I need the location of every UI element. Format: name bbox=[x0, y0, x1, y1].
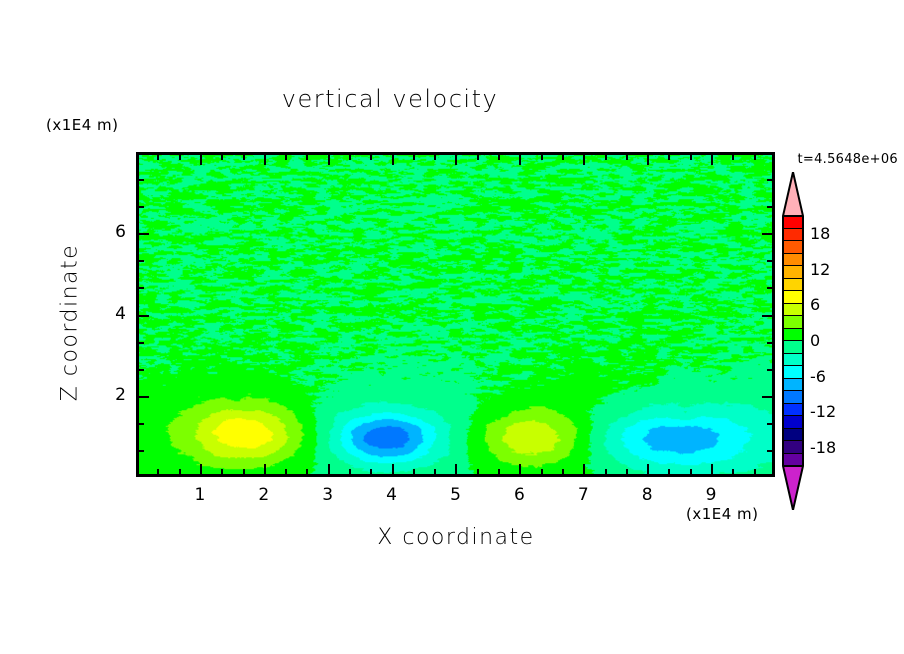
tick-mark bbox=[157, 469, 159, 475]
colorbar-band bbox=[782, 416, 804, 429]
tick-mark bbox=[138, 396, 149, 398]
tick-mark bbox=[138, 369, 144, 371]
tick-mark bbox=[767, 179, 773, 181]
tick-mark bbox=[179, 154, 181, 160]
colorbar-band bbox=[782, 354, 804, 367]
tick-mark bbox=[626, 154, 628, 160]
tick-mark bbox=[732, 154, 734, 160]
tick-mark bbox=[455, 154, 457, 165]
colorbar-band bbox=[782, 454, 804, 467]
page-title: vertical velocity bbox=[0, 85, 780, 113]
colorbar-extend-min bbox=[782, 466, 804, 510]
tick-mark bbox=[762, 396, 773, 398]
tick-mark bbox=[413, 469, 415, 475]
colorbar-band bbox=[782, 216, 804, 229]
tick-mark bbox=[434, 469, 436, 475]
x-tick-label: 7 bbox=[568, 485, 598, 505]
tick-mark bbox=[562, 469, 564, 475]
tick-mark bbox=[754, 469, 756, 475]
tick-mark bbox=[138, 315, 149, 317]
x-axis-title: X coordinate bbox=[136, 525, 776, 550]
tick-mark bbox=[767, 206, 773, 208]
tick-mark bbox=[138, 287, 144, 289]
y-tick-label: 2 bbox=[96, 385, 126, 405]
colorbar-band bbox=[782, 379, 804, 392]
tick-mark bbox=[138, 450, 144, 452]
colorbar-extend-max bbox=[782, 172, 804, 216]
tick-mark bbox=[285, 154, 287, 160]
colorbar-band bbox=[782, 391, 804, 404]
colorbar-band bbox=[782, 341, 804, 354]
z-axis-unit-label: (x1E4 m) bbox=[46, 116, 119, 134]
tick-mark bbox=[498, 469, 500, 475]
tick-mark bbox=[349, 154, 351, 160]
tick-mark bbox=[200, 464, 202, 475]
x-tick-label: 5 bbox=[441, 485, 471, 505]
tick-mark bbox=[541, 469, 543, 475]
colorbar-tick-label: -12 bbox=[810, 402, 836, 421]
tick-mark bbox=[328, 464, 330, 475]
tick-mark bbox=[370, 469, 372, 475]
figure-canvas: vertical velocity (x1E4 m) Z coordinate … bbox=[0, 0, 904, 654]
tick-mark bbox=[762, 233, 773, 235]
tick-mark bbox=[767, 342, 773, 344]
tick-mark bbox=[647, 154, 649, 165]
tick-mark bbox=[328, 154, 330, 165]
tick-mark bbox=[541, 154, 543, 160]
colorbar-band bbox=[782, 316, 804, 329]
x-tick-label: 6 bbox=[504, 485, 534, 505]
contour-field bbox=[139, 155, 772, 474]
colorbar-band bbox=[782, 404, 804, 417]
tick-mark bbox=[243, 154, 245, 160]
tick-mark bbox=[605, 154, 607, 160]
colorbar-band bbox=[782, 229, 804, 242]
tick-mark bbox=[477, 154, 479, 160]
tick-mark bbox=[767, 260, 773, 262]
tick-mark bbox=[179, 469, 181, 475]
tick-mark bbox=[455, 464, 457, 475]
x-tick-label: 4 bbox=[377, 485, 407, 505]
tick-mark bbox=[413, 154, 415, 160]
tick-mark bbox=[668, 154, 670, 160]
colorbar-band bbox=[782, 279, 804, 292]
tick-mark bbox=[243, 469, 245, 475]
tick-mark bbox=[138, 179, 144, 181]
x-tick-label: 1 bbox=[185, 485, 215, 505]
tick-mark bbox=[306, 154, 308, 160]
tick-mark bbox=[690, 154, 692, 160]
tick-mark bbox=[392, 154, 394, 165]
colorbar-band bbox=[782, 329, 804, 342]
tick-mark bbox=[138, 206, 144, 208]
tick-mark bbox=[762, 315, 773, 317]
tick-mark bbox=[767, 450, 773, 452]
x-tick-label: 3 bbox=[313, 485, 343, 505]
y-tick-label: 4 bbox=[96, 304, 126, 324]
tick-mark bbox=[767, 423, 773, 425]
tick-mark bbox=[264, 464, 266, 475]
time-annotation: t=4.5648e+06 bbox=[797, 152, 898, 167]
tick-mark bbox=[519, 464, 521, 475]
tick-mark bbox=[626, 469, 628, 475]
colorbar-tick-label: 12 bbox=[810, 260, 830, 279]
tick-mark bbox=[583, 154, 585, 165]
tick-mark bbox=[754, 154, 756, 160]
colorbar-tick-label: 0 bbox=[810, 331, 820, 350]
tick-mark bbox=[221, 154, 223, 160]
tick-mark bbox=[668, 469, 670, 475]
x-tick-label: 8 bbox=[632, 485, 662, 505]
tick-mark bbox=[138, 233, 149, 235]
tick-mark bbox=[221, 469, 223, 475]
tick-mark bbox=[519, 154, 521, 165]
tick-mark bbox=[370, 154, 372, 160]
colorbar-tick-label: -18 bbox=[810, 438, 836, 457]
tick-mark bbox=[711, 464, 713, 475]
tick-mark bbox=[767, 369, 773, 371]
tick-mark bbox=[392, 464, 394, 475]
tick-mark bbox=[138, 342, 144, 344]
tick-mark bbox=[690, 469, 692, 475]
tick-mark bbox=[498, 154, 500, 160]
colorbar-tick-label: 6 bbox=[810, 295, 820, 314]
plot-area bbox=[136, 152, 775, 477]
colorbar-band bbox=[782, 304, 804, 317]
tick-mark bbox=[200, 154, 202, 165]
tick-mark bbox=[306, 469, 308, 475]
tick-mark bbox=[285, 469, 287, 475]
colorbar-tick-label: -6 bbox=[810, 367, 826, 386]
x-axis-unit-label: (x1E4 m) bbox=[686, 505, 759, 523]
colorbar-band bbox=[782, 291, 804, 304]
colorbar-tick-label: 18 bbox=[810, 224, 830, 243]
tick-mark bbox=[647, 464, 649, 475]
tick-mark bbox=[434, 154, 436, 160]
tick-mark bbox=[477, 469, 479, 475]
x-tick-label: 9 bbox=[696, 485, 726, 505]
tick-mark bbox=[605, 469, 607, 475]
colorbar-band bbox=[782, 266, 804, 279]
tick-mark bbox=[562, 154, 564, 160]
tick-mark bbox=[767, 287, 773, 289]
tick-mark bbox=[732, 469, 734, 475]
colorbar-band bbox=[782, 254, 804, 267]
colorbar-band bbox=[782, 429, 804, 442]
x-tick-label: 2 bbox=[249, 485, 279, 505]
y-tick-label: 6 bbox=[96, 222, 126, 242]
tick-mark bbox=[264, 154, 266, 165]
colorbar-band bbox=[782, 241, 804, 254]
y-axis-title: Z coordinate bbox=[58, 193, 83, 453]
tick-mark bbox=[711, 154, 713, 165]
colorbar-band bbox=[782, 366, 804, 379]
tick-mark bbox=[157, 154, 159, 160]
tick-mark bbox=[138, 423, 144, 425]
colorbar: 181260-6-12-18 bbox=[782, 216, 804, 466]
colorbar-band bbox=[782, 441, 804, 454]
tick-mark bbox=[138, 260, 144, 262]
tick-mark bbox=[583, 464, 585, 475]
tick-mark bbox=[349, 469, 351, 475]
